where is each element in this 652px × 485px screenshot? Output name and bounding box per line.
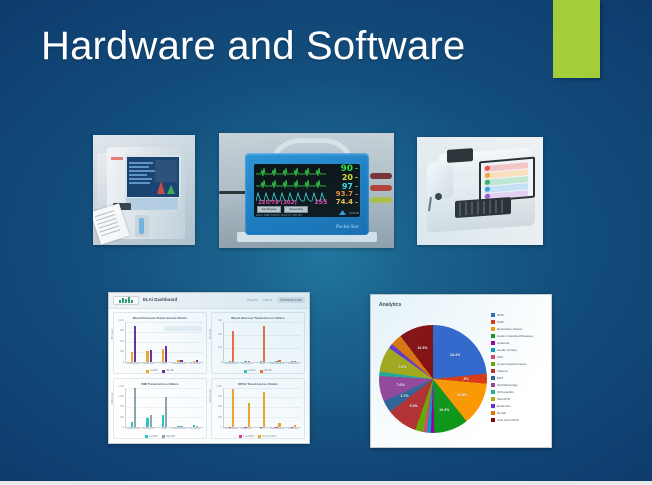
- y-axis-ticks: 1,200 900 600 300 0: [115, 321, 125, 363]
- dashboard-title: ELAi Dashboard: [143, 297, 177, 302]
- panel-spo2-trend: SPO2 Trend Across Clinics SPO2 Count 1,0…: [211, 378, 305, 440]
- panel-title: Blood Pressure Trend Across Clinics: [117, 316, 203, 320]
- legend-swatch: [491, 348, 495, 352]
- pie-slice-label: 3.7%: [401, 394, 409, 398]
- pie-slice-label: 10.3%: [417, 346, 427, 350]
- chart-legend: Low SPO2 Normal SPO2: [212, 435, 304, 438]
- analyzer-brand-mark: [111, 157, 123, 160]
- alarm-icon: [339, 210, 346, 215]
- legend-label: Genito Urinary: [497, 348, 517, 352]
- legend-swatch: [491, 383, 495, 387]
- x-axis-ticks: Chikkaballapur Kanakapura Gubbi Mahadeva…: [125, 428, 203, 433]
- legend-label: Endocrine: [497, 404, 511, 408]
- legend-label: Dental: [497, 411, 506, 415]
- pie-slice-label: 7.6%: [398, 365, 406, 369]
- biochem-printer: [447, 148, 473, 163]
- dashboard-nav[interactable]: Reports Clinics Download Data: [247, 297, 305, 303]
- panel-title: Blood Glucose Trend Across Clinics: [215, 316, 301, 320]
- pie-disc: [379, 325, 487, 433]
- monitor-clock: 13:05:48: [349, 212, 359, 215]
- pie-slice-label: 10.3%: [439, 408, 449, 412]
- y-axis-ticks: 1,000 750 500 250 0: [213, 387, 223, 429]
- x-axis-ticks: Chikkaballapur Kanakapura Gubbi Mahadeva…: [223, 428, 301, 433]
- chart-legend: Low BMI High BMI: [114, 435, 206, 438]
- screen-data-row: [129, 182, 150, 184]
- legend-swatch: [491, 320, 495, 324]
- image-patient-monitor: 90 20 97 93.7 74.4 125/78 (102) 155 Star…: [219, 133, 394, 248]
- legend-item[interactable]: Dental: [491, 409, 547, 416]
- pie-chart-title: Analytics: [379, 302, 401, 308]
- image-clinic-dashboard: ELAi Dashboard Reports Clinics Download …: [108, 292, 310, 444]
- pie-slice-label: 7.6%: [396, 383, 404, 387]
- screen-data-row: [129, 178, 152, 180]
- analyzer-screen: [125, 155, 181, 199]
- ecg-waveform-1: [256, 166, 326, 177]
- y-axis-ticks: 300 200 100 0: [213, 321, 223, 363]
- monitor-brand-label: Pocket Star: [336, 225, 359, 230]
- softkey-review-data[interactable]: Review Data: [284, 206, 308, 213]
- y-axis-label: BG Count: [210, 329, 212, 339]
- legend-item[interactable]: Gastro Intestinal Diseases: [491, 332, 547, 339]
- screen-data-row: [129, 166, 149, 168]
- screen-data-row: [129, 162, 153, 164]
- monitor-case: 90 20 97 93.7 74.4 125/78 (102) 155 Star…: [245, 153, 369, 235]
- legend-swatch: [491, 334, 495, 338]
- legend-item[interactable]: ENT: [491, 374, 547, 381]
- x-axis-ticks: Chikkaballapur Kanakapura Gubbi Mahadeva…: [223, 363, 301, 368]
- slide: Hardware and Software: [0, 0, 652, 485]
- legend-item[interactable]: Ophthalmology: [491, 381, 547, 388]
- ecg-waveform-2: [256, 178, 326, 189]
- legend-swatch: [491, 418, 495, 422]
- screen-histogram-area: [155, 160, 177, 182]
- chart-legend: Low BP High BP: [114, 370, 206, 373]
- panel-bmi-trend: BMI Trend Across Clinics BMI Count 1,400…: [113, 378, 207, 440]
- biochem-touchscreen[interactable]: [479, 157, 535, 203]
- screen-peak-red: [157, 181, 165, 194]
- pie-chart-area: 23.4%3%12.9%10.3%9.3%3.7%7.6%7.6%10.3%: [379, 325, 487, 433]
- vital-pulse-rate: 155: [314, 198, 327, 206]
- legend-label: Anaemia: [497, 341, 509, 345]
- legend-item[interactable]: Anaemia: [491, 339, 547, 346]
- nav-item-reports[interactable]: Reports: [247, 298, 258, 302]
- nav-item-clinics[interactable]: Clinics: [263, 298, 272, 302]
- legend-swatch: [491, 327, 495, 331]
- pie-chart-legend: NCDCNSRespiratory IllnessGastro Intestin…: [491, 311, 547, 423]
- image-hematology-analyzer: [93, 135, 195, 245]
- panel-bp-trend: Blood Pressure Trend Across Clinics BP C…: [113, 312, 207, 374]
- legend-item[interactable]: Endocrine: [491, 402, 547, 409]
- legend-item[interactable]: ANC: [491, 353, 547, 360]
- screen-data-row: [129, 174, 147, 176]
- screen-data-row: [129, 170, 155, 172]
- softkey-start-measure[interactable]: Start Measure: [257, 206, 281, 213]
- y-axis-label: BP Count: [112, 329, 114, 339]
- bar-series: [224, 322, 301, 362]
- monitor-port-red: [370, 173, 392, 179]
- accent-rectangle: [553, 0, 600, 78]
- legend-swatch: [491, 390, 495, 394]
- pie-slice-label: 3%: [463, 377, 468, 381]
- bar-series: [126, 388, 203, 428]
- screen-peak-green: [167, 185, 175, 194]
- legend-swatch: [491, 411, 495, 415]
- legend-label: Respiratory Illness: [497, 327, 522, 331]
- legend-swatch: [491, 369, 495, 373]
- legend-item[interactable]: NCD: [491, 311, 547, 318]
- image-biochemistry-analyzer: [417, 137, 543, 245]
- legend-swatch: [491, 397, 495, 401]
- bar-series: [224, 388, 301, 428]
- legend-item[interactable]: Respiratory Illness: [491, 325, 547, 332]
- legend-label: NCD: [497, 313, 504, 317]
- dashboard-header: ELAi Dashboard Reports Clinics Download …: [109, 293, 309, 309]
- y-axis-label: SPO2 Count: [210, 390, 212, 403]
- legend-swatch: [491, 362, 495, 366]
- dashboard-logo-icon: [113, 296, 139, 305]
- panel-title: BMI Trend Across Clinics: [117, 382, 203, 386]
- legend-label: Trauma: [497, 369, 508, 373]
- panel-glucose-trend: Blood Glucose Trend Across Clinics BG Co…: [211, 312, 305, 374]
- legend-label: Viral Fever/PUO: [497, 418, 519, 422]
- legend-item[interactable]: Viral Fever/PUO: [491, 416, 547, 423]
- legend-label: Orthopedics: [497, 390, 514, 394]
- biochem-knob: [435, 193, 442, 200]
- monitor-status-line: Adult | NIBP 125/78 | SpO2 97 | PR 155: [256, 214, 302, 217]
- legend-swatch: [491, 313, 495, 317]
- plot-area: [125, 388, 203, 429]
- legend-item[interactable]: Gynecological Cases: [491, 360, 547, 367]
- legend-item[interactable]: CNS: [491, 318, 547, 325]
- legend-item[interactable]: Genito Urinary: [491, 346, 547, 353]
- vitals-readouts: 90 20 97 93.7 74.4: [326, 165, 358, 206]
- plot-area: [223, 388, 301, 429]
- y-axis-ticks: 1,400 1,050 700 350 0: [115, 387, 125, 429]
- chart-tooltip: [164, 326, 202, 331]
- legend-swatch: [491, 341, 495, 345]
- panel-title: SPO2 Trend Across Clinics: [215, 382, 301, 386]
- legend-item[interactable]: Skin/STD: [491, 395, 547, 402]
- vital-temp-2: 74.4: [326, 199, 358, 207]
- legend-swatch: [491, 404, 495, 408]
- legend-label: Skin/STD: [497, 397, 510, 401]
- legend-item[interactable]: Orthopedics: [491, 388, 547, 395]
- monitor-port-spo2: [370, 197, 392, 203]
- legend-item[interactable]: Trauma: [491, 367, 547, 374]
- legend-swatch: [491, 376, 495, 380]
- plot-area: [223, 322, 301, 363]
- pie-slice-label: 12.9%: [457, 393, 467, 397]
- y-axis-label: BMI Count: [112, 393, 114, 404]
- pie-slice-label: 9.3%: [410, 404, 418, 408]
- image-analytics-pie-chart: Analytics 23.4%3%12.9%10.3%9.3%3.7%7.6%7…: [370, 294, 552, 448]
- pie-slice-label: 23.4%: [450, 353, 460, 357]
- monitor-screen: 90 20 97 93.7 74.4 125/78 (102) 155 Star…: [254, 164, 360, 217]
- monitor-cable-left: [219, 191, 247, 194]
- legend-label: CNS: [497, 320, 504, 324]
- nav-item-download-data[interactable]: Download Data: [277, 297, 305, 303]
- legend-label: Gastro Intestinal Diseases: [497, 334, 533, 338]
- x-axis-ticks: Chikkaballapur Kanakapura Gubbi Mahadeva…: [125, 363, 203, 368]
- page-title: Hardware and Software: [41, 24, 465, 69]
- legend-swatch: [491, 355, 495, 359]
- monitor-port-bp: [370, 185, 392, 191]
- monitor-softkeys[interactable]: Start Measure Review Data: [257, 206, 308, 213]
- legend-label: ANC: [497, 355, 504, 359]
- chart-legend: Low BG High BG: [212, 370, 304, 373]
- analyzer-keypad-strip: [125, 197, 179, 211]
- dashboard-chart-grid: Blood Pressure Trend Across Clinics BP C…: [113, 312, 305, 439]
- legend-label: ENT: [497, 376, 503, 380]
- legend-label: Ophthalmology: [497, 383, 518, 387]
- analyzer-sample-tube: [139, 218, 144, 234]
- legend-label: Gynecological Cases: [497, 362, 526, 366]
